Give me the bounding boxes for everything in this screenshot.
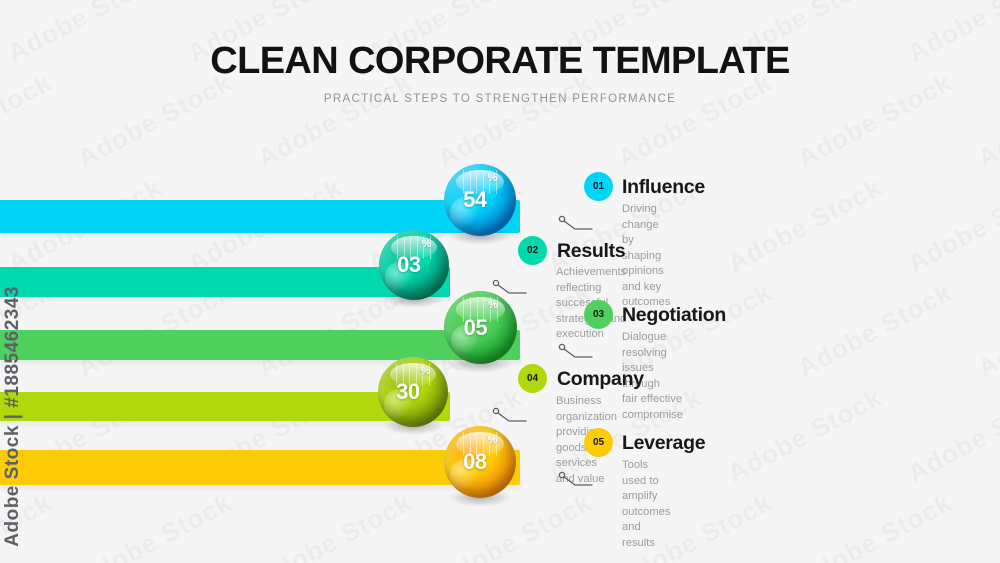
sphere-value-percent: % [488, 434, 497, 446]
legend-item-title: Negotiation [622, 304, 726, 327]
legend-desc-line-2: fair effective compromise [622, 392, 683, 423]
number-badge-04: 04 [518, 364, 547, 393]
sphere-value-number: 30 [396, 379, 419, 405]
legend-item-title: Influence [622, 176, 705, 199]
sphere-value-number: 08 [463, 449, 486, 475]
sphere-value-percent: % [422, 238, 431, 250]
sphere-value-04: 30% [378, 357, 448, 427]
number-badge-05: 05 [584, 428, 613, 457]
number-badge-01: 01 [584, 172, 613, 201]
legend-item-title: Leverage [622, 432, 705, 455]
sphere-value-number: 54 [463, 187, 486, 213]
connector-line-icon [558, 214, 596, 234]
infographic-canvas: Adobe StockAdobe StockAdobe StockAdobe S… [0, 0, 1000, 563]
bar-05 [0, 450, 520, 485]
sphere-value-05: 08% [444, 426, 516, 498]
sphere-marker-05: 08% [444, 426, 516, 498]
legend-item-description: Driving change by shaping opinionsand ke… [622, 202, 671, 311]
connector-line-icon [558, 342, 596, 362]
number-badge-03: 03 [584, 300, 613, 329]
sphere-value-number: 05 [464, 315, 487, 341]
legend-item-title: Company [557, 368, 644, 391]
legend-item-description: Tools used to amplify outcomesand result… [622, 458, 671, 551]
sphere-marker-01: 54% [444, 164, 516, 236]
sphere-value-01: 54% [444, 164, 516, 236]
sphere-marker-04: 30% [378, 357, 448, 427]
sphere-value-number: 03 [397, 252, 420, 278]
sphere-value-02: 03% [379, 230, 449, 300]
bar-01 [0, 200, 520, 233]
sphere-marker-03: 05% [444, 291, 517, 364]
connector-line-icon [492, 406, 530, 426]
side-watermark: Adobe Stock | #1885462343 [2, 286, 24, 547]
sphere-value-percent: % [421, 365, 430, 377]
legend-item-title: Results [557, 240, 625, 263]
sphere-value-percent: % [488, 172, 497, 184]
legend-desc-line-2: and results [622, 520, 671, 551]
bar-03 [0, 330, 520, 360]
legend-desc-line-1: Tools used to amplify outcomes [622, 458, 671, 520]
sphere-value-03: 05% [444, 291, 517, 364]
connector-line-icon [492, 278, 530, 298]
sphere-value-percent: % [488, 299, 497, 311]
sphere-marker-02: 03% [379, 230, 449, 300]
number-badge-02: 02 [518, 236, 547, 265]
connector-line-icon [558, 470, 596, 490]
legend-desc-line-1: Driving change by shaping opinions [622, 202, 671, 280]
